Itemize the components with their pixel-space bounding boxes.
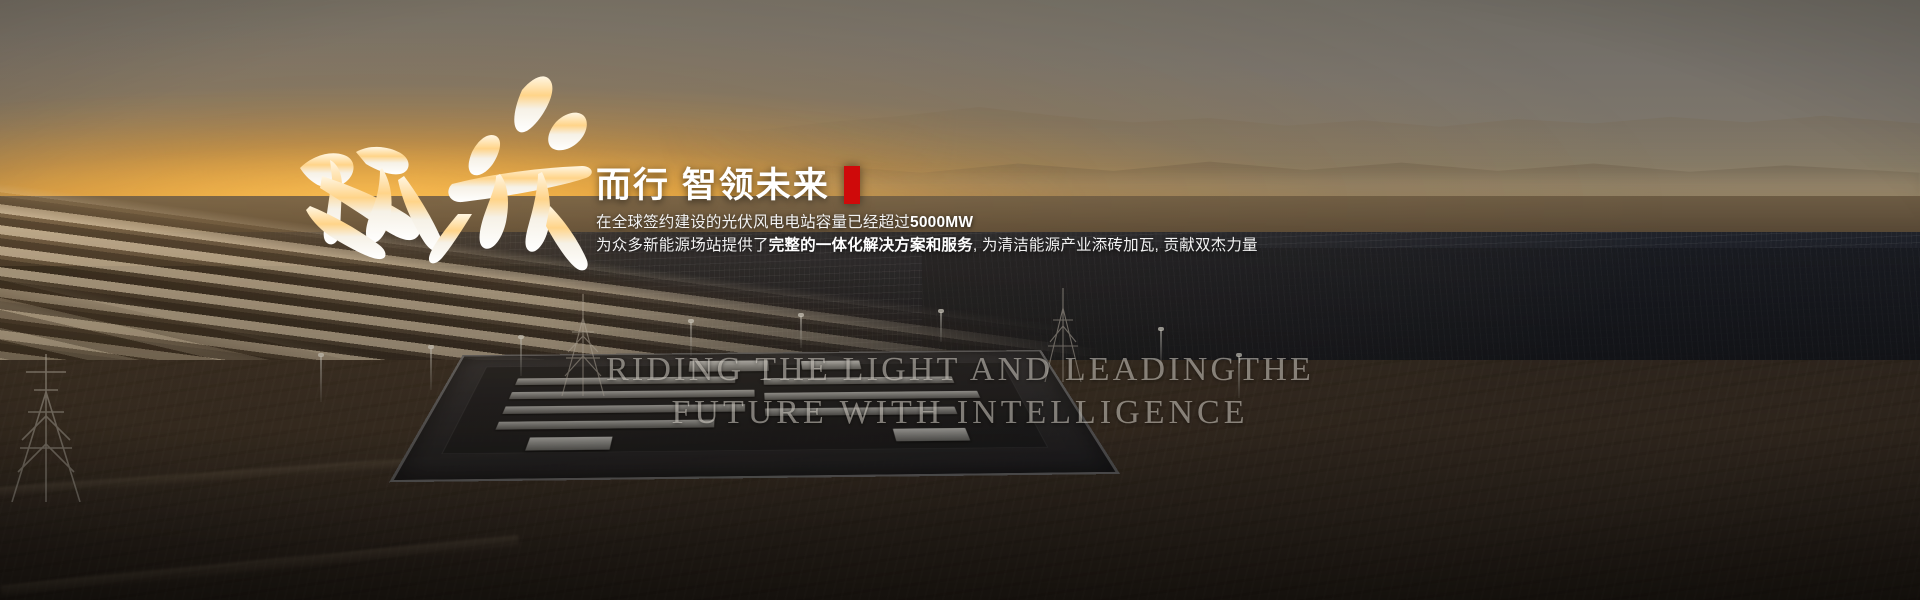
yard-building xyxy=(689,360,769,371)
background-scene xyxy=(0,0,1920,600)
subtitle-2-text-b: , 为清洁能源产业添砖加瓦, 贡献双杰力量 xyxy=(973,237,1258,254)
transmission-pylon-icon xyxy=(1044,286,1082,382)
hero-banner: 而行 智领未来 在全球签约建设的光伏风电电站容量已经超过5000MW 为众多新能… xyxy=(0,0,1920,600)
light-pole xyxy=(520,338,522,376)
transmission-pylon-icon xyxy=(560,292,606,396)
subtitle-1-capacity: 5000MW xyxy=(910,214,973,231)
light-pole xyxy=(320,356,322,402)
substation-yard xyxy=(389,350,1120,482)
yard-building xyxy=(801,360,861,369)
subtitle-block: 在全球签约建设的光伏风电电站容量已经超过5000MW 为众多新能源场站提供了完整… xyxy=(596,211,1258,257)
headline-block: 而行 智领未来 xyxy=(596,166,860,204)
transmission-pylon-icon xyxy=(8,352,84,502)
light-pole xyxy=(1238,356,1240,398)
light-pole xyxy=(690,322,692,356)
subtitle-2-text-a: 为众多新能源场站提供了 xyxy=(596,237,769,254)
light-pole xyxy=(940,312,942,342)
light-pole xyxy=(1160,330,1162,366)
subtitle-2-highlight: 完整的一体化解决方案和服务 xyxy=(769,237,973,254)
subtitle-line-1: 在全球签约建设的光伏风电电站容量已经超过5000MW xyxy=(596,211,1258,234)
light-pole xyxy=(430,348,432,390)
headline-title: 而行 智领未来 xyxy=(596,168,830,203)
subtitle-line-2: 为众多新能源场站提供了完整的一体化解决方案和服务, 为清洁能源产业添砖加瓦, 贡… xyxy=(596,234,1258,257)
headline-accent-block xyxy=(844,166,860,204)
light-pole xyxy=(800,316,802,348)
subtitle-1-text: 在全球签约建设的光伏风电电站容量已经超过 xyxy=(596,214,910,231)
